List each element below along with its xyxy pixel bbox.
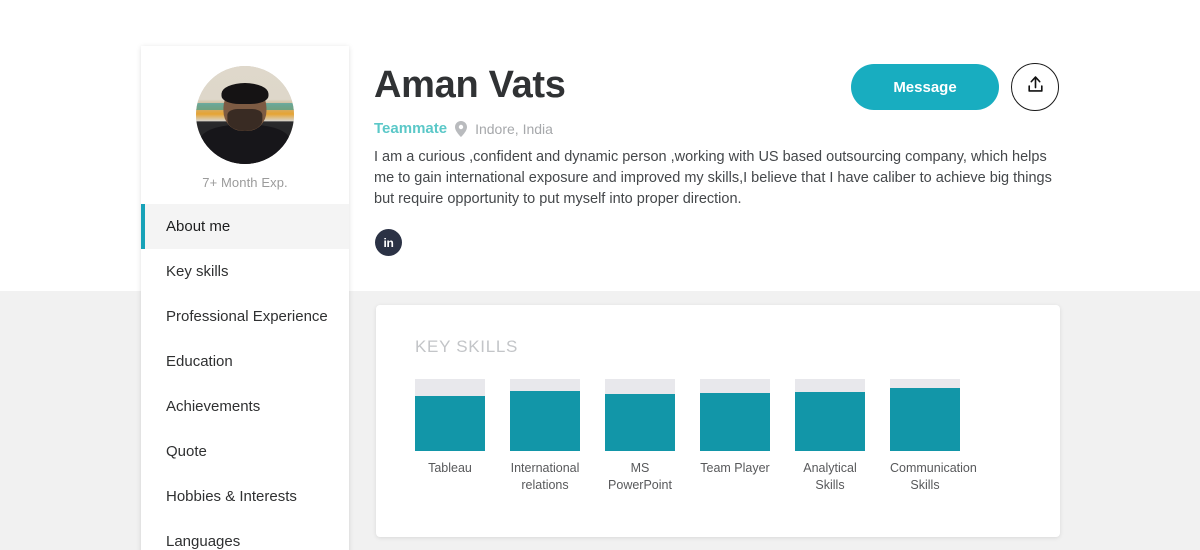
skill-bar: Communication Skills — [890, 379, 960, 493]
share-upload-icon — [1025, 74, 1046, 100]
profile-page: 7+ Month Exp. About meKey skillsProfessi… — [0, 0, 1200, 550]
skill-bar-track — [795, 379, 865, 451]
skill-bar-fill — [700, 393, 770, 451]
profile-sidebar: 7+ Month Exp. About meKey skillsProfessi… — [141, 46, 349, 550]
sidebar-item-label: Achievements — [166, 398, 260, 415]
sidebar-item-label: About me — [166, 218, 230, 235]
avatar-photo-beard — [227, 109, 262, 131]
sidebar-item-label: Languages — [166, 533, 240, 550]
skill-bar: Analytical Skills — [795, 379, 865, 493]
skill-label: Analytical Skills — [795, 460, 865, 493]
sidebar-item-achievements[interactable]: Achievements — [141, 384, 349, 429]
profile-bio: I am a curious ,confident and dynamic pe… — [374, 147, 1052, 210]
avatar — [196, 66, 294, 164]
experience-label: 7+ Month Exp. — [141, 175, 349, 190]
message-button[interactable]: Message — [851, 64, 999, 110]
avatar-photo-body — [200, 125, 290, 164]
key-skills-chart: TableauInternational relationsMS PowerPo… — [415, 379, 1032, 493]
sidebar-item-languages[interactable]: Languages — [141, 519, 349, 550]
sidebar-item-label: Hobbies & Interests — [166, 488, 297, 505]
skill-bar-fill — [890, 388, 960, 451]
avatar-photo-hair — [221, 83, 268, 105]
role-label: Teammate — [374, 120, 447, 137]
key-skills-title: KEY SKILLS — [415, 337, 518, 357]
avatar-container — [141, 46, 349, 164]
skill-bar: MS PowerPoint — [605, 379, 675, 493]
skill-bar: International relations — [510, 379, 580, 493]
skill-bar-fill — [795, 392, 865, 451]
page-title: Aman Vats — [374, 64, 566, 107]
sidebar-item-label: Key skills — [166, 263, 229, 280]
skill-bar-track — [605, 379, 675, 451]
skill-bar-fill — [415, 396, 485, 451]
skill-bar: Tableau — [415, 379, 485, 493]
skill-label: Team Player — [700, 460, 770, 477]
share-button[interactable] — [1011, 63, 1059, 111]
skill-bar-track — [510, 379, 580, 451]
location-label: Indore, India — [475, 121, 553, 137]
skill-bar: Team Player — [700, 379, 770, 493]
sidebar-item-about-me[interactable]: About me — [141, 204, 349, 249]
skill-bar-fill — [510, 391, 580, 451]
linkedin-icon[interactable]: in — [375, 229, 402, 256]
sidebar-item-label: Quote — [166, 443, 207, 460]
sidebar-nav: About meKey skillsProfessional Experienc… — [141, 204, 349, 550]
skill-label: International relations — [510, 460, 580, 493]
sidebar-item-hobbies-interests[interactable]: Hobbies & Interests — [141, 474, 349, 519]
location-pin-icon — [455, 121, 467, 137]
sidebar-item-education[interactable]: Education — [141, 339, 349, 384]
skill-label: MS PowerPoint — [605, 460, 675, 493]
skill-label: Tableau — [415, 460, 485, 477]
skill-bar-track — [415, 379, 485, 451]
sidebar-item-quote[interactable]: Quote — [141, 429, 349, 474]
sidebar-item-professional-experience[interactable]: Professional Experience — [141, 294, 349, 339]
skill-bar-track — [890, 379, 960, 451]
skill-bar-fill — [605, 394, 675, 451]
sidebar-item-label: Professional Experience — [166, 308, 328, 325]
sidebar-item-label: Education — [166, 353, 233, 370]
key-skills-card: KEY SKILLS TableauInternational relation… — [376, 305, 1060, 537]
skill-bar-track — [700, 379, 770, 451]
profile-meta: Teammate Indore, India — [374, 120, 553, 137]
skill-label: Communication Skills — [890, 460, 960, 493]
sidebar-item-key-skills[interactable]: Key skills — [141, 249, 349, 294]
